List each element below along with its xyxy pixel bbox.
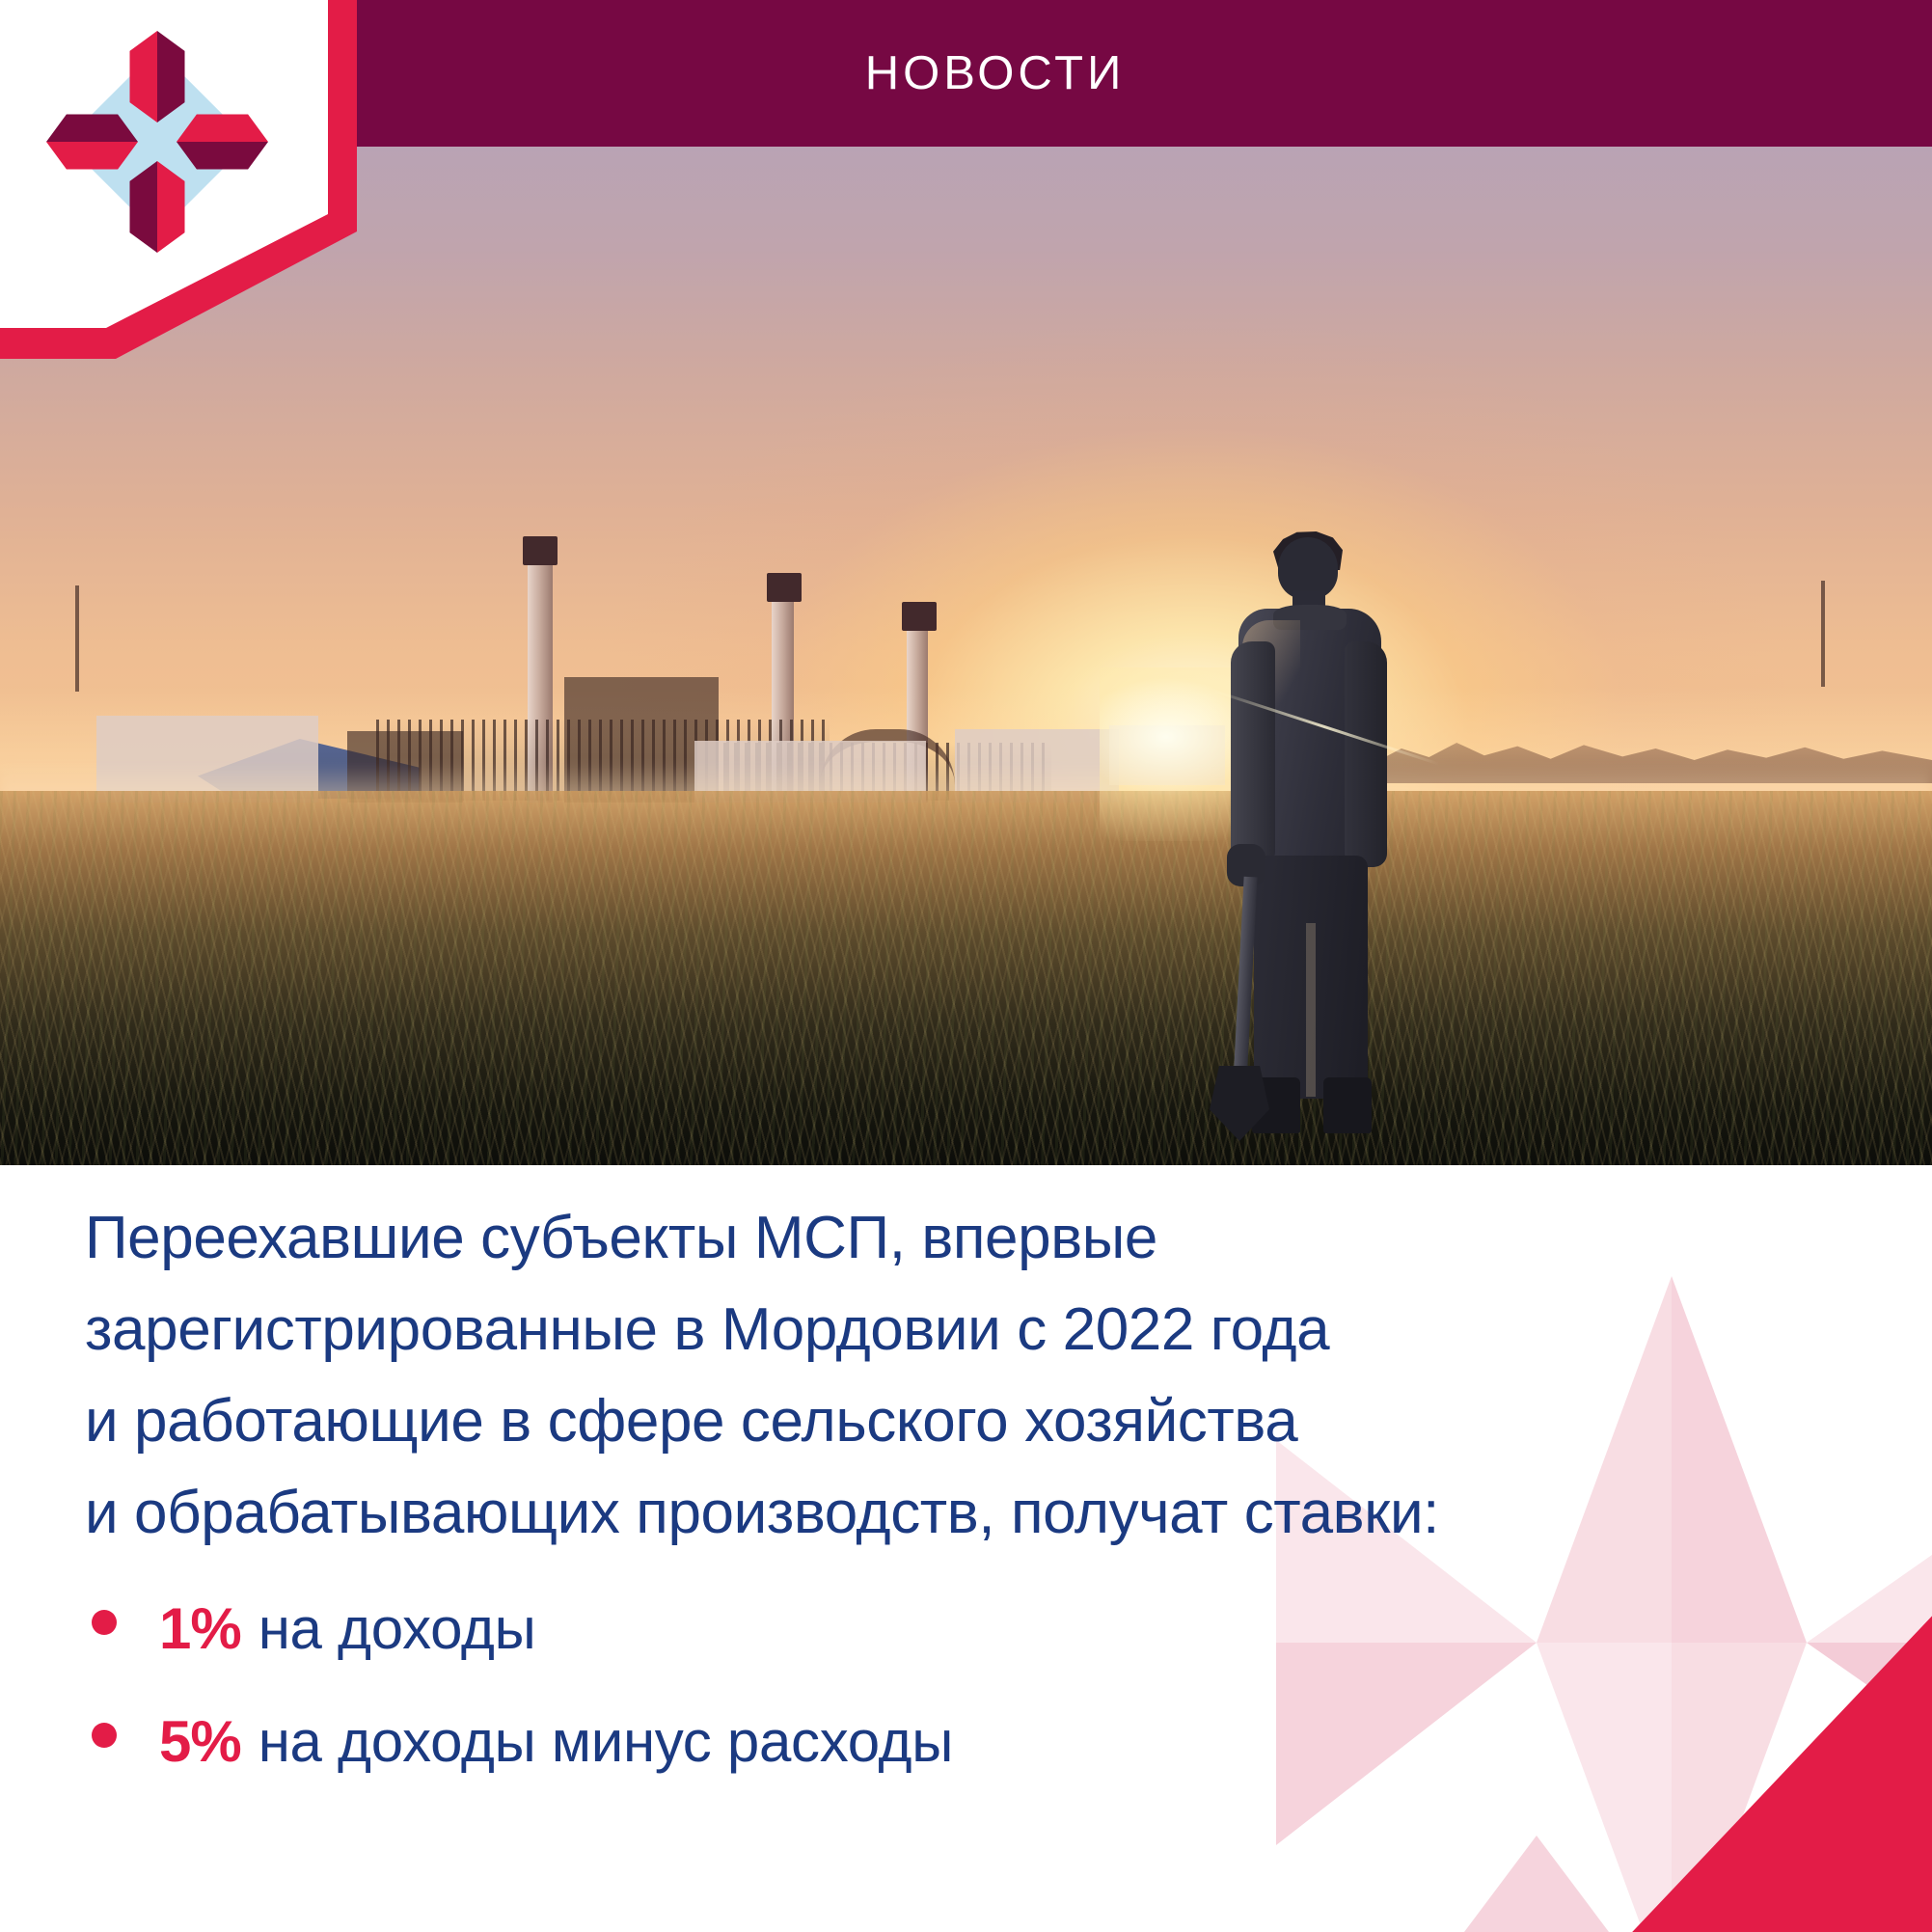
content-panel: Переехавшие субъекты МСП, впервые зареги… <box>0 1165 1932 1932</box>
farmer-left-arm <box>1231 641 1275 865</box>
rate-value: 1% <box>159 1595 241 1662</box>
news-poster: НОВОСТИ <box>0 0 1932 1932</box>
rate-value: 5% <box>159 1708 241 1775</box>
farmer-leg-gap <box>1306 923 1316 1097</box>
paragraph-line-4: и обрабатывающих производств, получат ст… <box>85 1467 1782 1559</box>
body-paragraph: Переехавшие субъекты МСП, впервые зареги… <box>85 1192 1782 1559</box>
list-item: 1% на доходы <box>92 1595 1731 1662</box>
logo-petal-right <box>177 96 268 188</box>
rate-label: на доходы минус расходы <box>259 1708 953 1775</box>
paragraph-line-2: зарегистрированные в Мордовии с 2022 год… <box>85 1284 1782 1375</box>
bullet-dot-icon <box>92 1723 117 1748</box>
mordovia-star-logo-icon <box>66 50 249 233</box>
farmer-right-arm <box>1345 641 1387 867</box>
bullet-dot-icon <box>92 1610 117 1635</box>
rate-label: на доходы <box>259 1595 536 1662</box>
rates-list: 1% на доходы 5% на доходы минус расходы <box>92 1595 1731 1821</box>
list-item: 5% на доходы минус расходы <box>92 1708 1731 1775</box>
utility-pole-icon <box>1821 581 1825 687</box>
logo-petal-left <box>46 96 138 188</box>
frosty-field <box>0 791 1932 1165</box>
paragraph-line-3: и работающие в сфере сельского хозяйства <box>85 1375 1782 1467</box>
field-grass-texture <box>0 791 1932 1165</box>
paragraph-line-1: Переехавшие субъекты МСП, впервые <box>85 1192 1782 1284</box>
brand-badge <box>0 0 357 359</box>
farmer-boot <box>1323 1077 1372 1133</box>
farmer-silhouette <box>1223 537 1397 1135</box>
